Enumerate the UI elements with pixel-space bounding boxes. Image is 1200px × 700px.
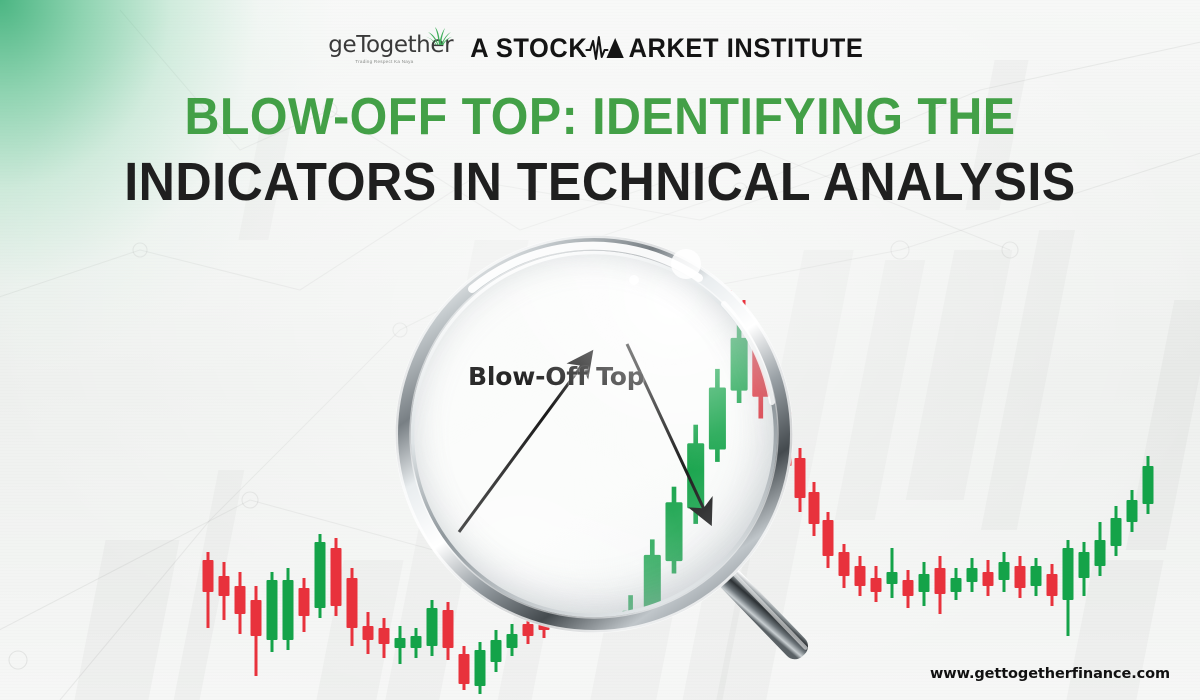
institute-name: A STOCK ARKET INSTITUTE — [470, 33, 863, 64]
getogether-logo[interactable]: geTogether Trading Respect Ka Naya — [328, 34, 453, 64]
poster-canvas: geTogether Trading Respect Ka Naya A STO… — [0, 0, 1200, 700]
magnifier-rim — [394, 234, 794, 634]
heartbeat-pulse-icon — [586, 35, 630, 62]
title-line-2: INDICATORS IN TECHNICAL ANALYSIS — [42, 156, 1158, 209]
logo-tagline: Trading Respect Ka Naya — [355, 59, 413, 64]
website-url[interactable]: www.gettogetherfinance.com — [930, 666, 1170, 682]
title-line-1: BLOW-OFF TOP: IDENTIFYING THE — [42, 92, 1158, 143]
institute-name-post: ARKET INSTITUTE — [629, 33, 864, 64]
brand-bar: geTogether Trading Respect Ka Naya A STO… — [0, 33, 1200, 64]
sprout-icon — [422, 25, 456, 45]
institute-name-pre: A STOCK — [470, 33, 587, 64]
magnifying-glass: Blow-Off Top — [394, 234, 794, 634]
poster-title: BLOW-OFF TOP: IDENTIFYING THE INDICATORS… — [0, 92, 1200, 210]
